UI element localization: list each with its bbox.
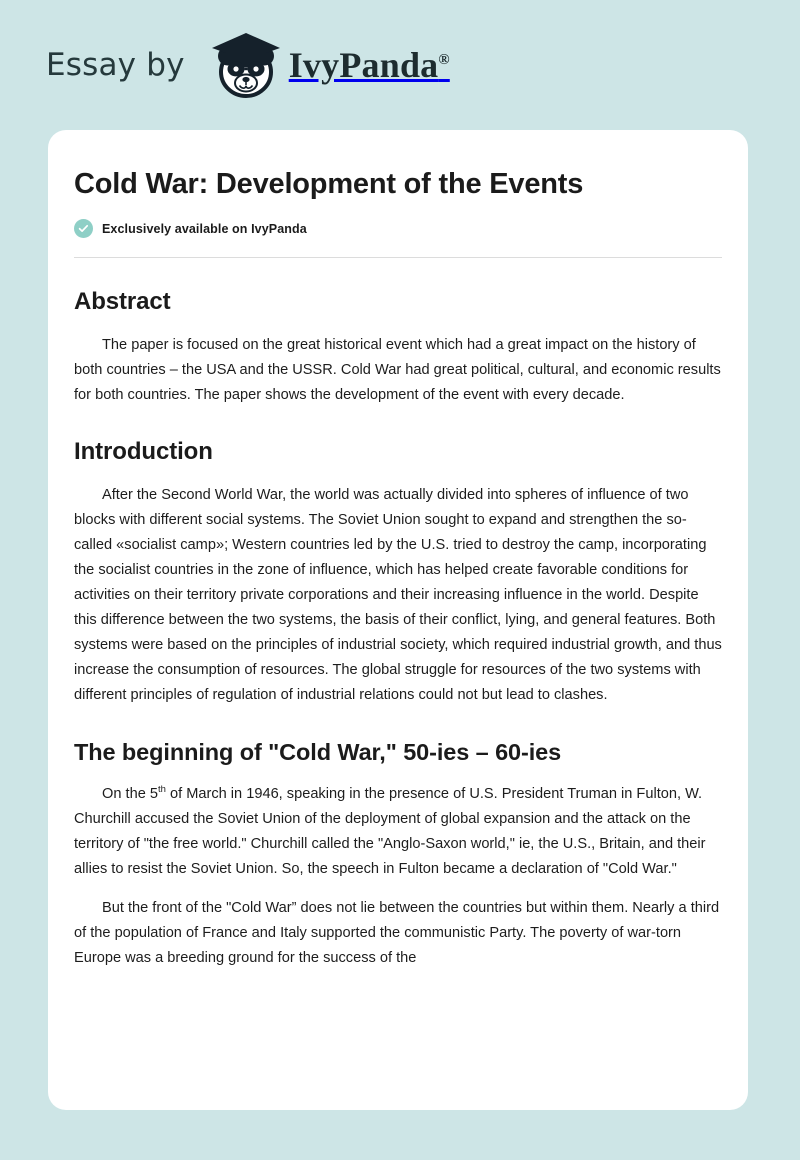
ivypanda-wordmark: IvyPanda® [289,47,450,83]
brand-header: Essay by [0,0,800,130]
paragraph-cold-war-2: But the front of the "Cold War” does not… [74,896,722,971]
title-divider [74,257,722,258]
section-heading-beginning-of-cold-war: The beginning of "Cold War," 50-ies – 60… [74,738,722,766]
paragraph-introduction-1: After the Second World War, the world wa… [74,483,722,708]
paragraph-cold-war-1-prefix: On the 5 [102,786,158,802]
section-heading-abstract: Abstract [74,288,722,317]
exclusive-availability-badge: Exclusively available on IvyPanda [74,219,722,238]
paragraph-abstract-1: The paper is focused on the great histor… [74,333,722,408]
registered-trademark-icon: ® [438,52,449,68]
panda-graduate-icon [201,27,287,103]
paragraph-cold-war-1-suffix: of March in 1946, speaking in the presen… [74,786,706,877]
ivypanda-logo-link[interactable]: IvyPanda® [201,27,450,103]
brand-name-text: IvyPanda [289,45,439,85]
essay-by-label: Essay by [46,50,185,81]
ordinal-superscript: th [158,784,166,795]
page-title: Cold War: Development of the Events [74,130,722,201]
check-circle-icon [74,219,93,238]
essay-paper-card: Cold War: Development of the Events Excl… [48,130,748,1110]
section-heading-introduction: Introduction [74,438,722,467]
paragraph-cold-war-1: On the 5th of March in 1946, speaking in… [74,782,722,882]
exclusive-availability-label: Exclusively available on IvyPanda [102,222,307,236]
